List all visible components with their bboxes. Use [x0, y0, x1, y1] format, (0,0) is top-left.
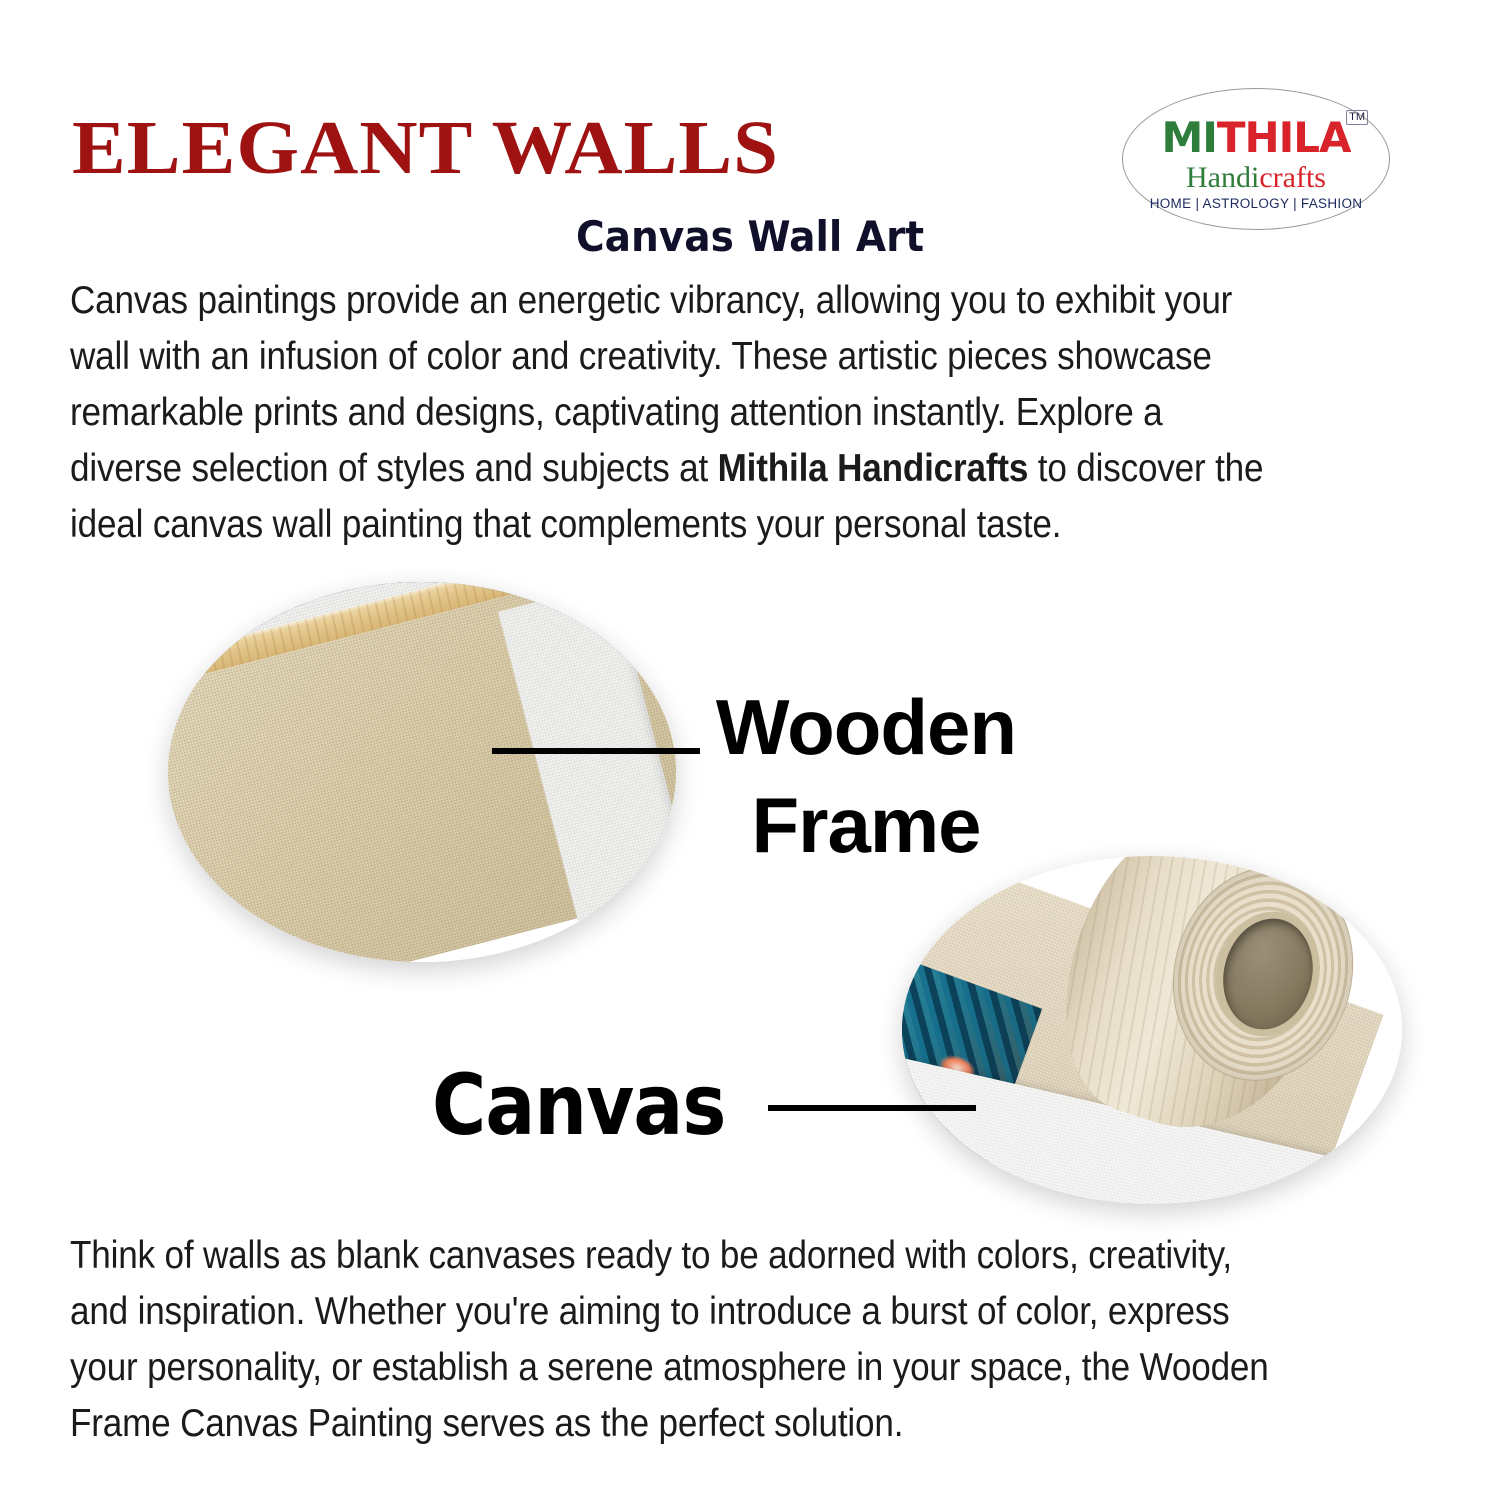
logo-tagline: HOME | ASTROLOGY | FASHION: [1122, 196, 1390, 211]
trademark-icon: TM: [1346, 110, 1368, 125]
poster-canvas: ELEGANT WALLS MITHILA TM Handicrafts HOM…: [0, 0, 1500, 1500]
page-subtitle: Canvas Wall Art: [53, 212, 1448, 262]
brand-mention: Mithila Handicrafts: [718, 447, 1029, 490]
brand-logo: MITHILA TM Handicrafts HOME | ASTROLOGY …: [1122, 88, 1390, 230]
wooden-frame-photo: [168, 582, 676, 962]
wooden-frame-label: Wooden Frame: [706, 678, 1026, 874]
logo-wordmark-part1: MI: [1161, 113, 1216, 162]
canvas-leader-line: [768, 1105, 976, 1111]
page-title: ELEGANT WALLS: [72, 108, 779, 188]
logo-wordmark-part2: THILA: [1217, 113, 1351, 162]
logo-subname-part1: Handi: [1186, 161, 1259, 194]
closing-paragraph: Think of walls as blank canvases ready t…: [70, 1228, 1283, 1452]
canvas-roll-photo: [902, 856, 1402, 1204]
logo-subname: Handicrafts: [1122, 162, 1390, 194]
intro-paragraph: Canvas paintings provide an energetic vi…: [70, 273, 1283, 553]
wooden-frame-leader-line: [492, 748, 700, 754]
logo-subname-part2: crafts: [1259, 161, 1326, 194]
canvas-label: Canvas: [432, 1058, 726, 1152]
